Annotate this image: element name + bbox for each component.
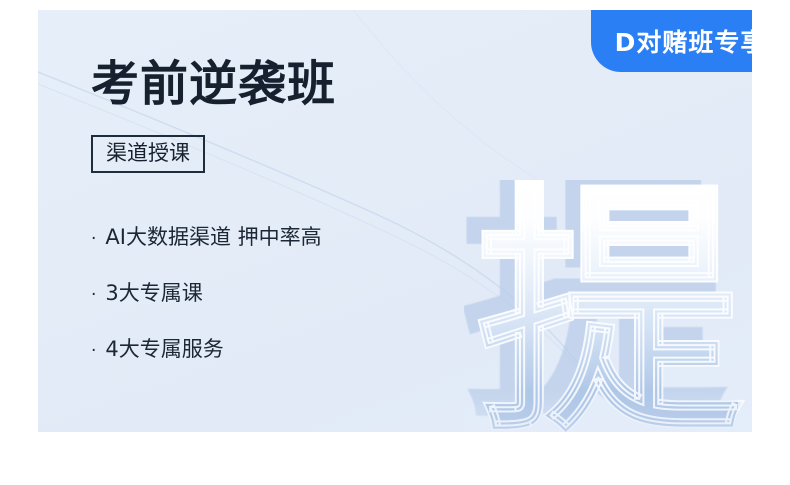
page-title: 考前逆袭班 <box>91 60 336 108</box>
watermark-glyph: 提 提 <box>464 180 752 432</box>
watermark-glyph-main: 提 <box>476 180 738 432</box>
list-item-label: AI大数据渠道 押中率高 <box>105 221 321 251</box>
list-item-label: 3大专属课 <box>105 277 202 307</box>
exclusive-badge[interactable]: D对赌班专享 <box>591 10 752 72</box>
list-item: · 3大专属课 <box>91 277 336 307</box>
watermark-fade-overlay <box>464 390 752 432</box>
bullet-icon: · <box>91 287 96 304</box>
bullet-icon: · <box>91 231 96 248</box>
list-item: · 4大专属服务 <box>91 333 336 363</box>
feature-list: · AI大数据渠道 押中率高 · 3大专属课 · 4大专属服务 <box>91 221 336 363</box>
course-mode-tag: 渠道授课 <box>91 135 205 173</box>
list-item-label: 4大专属服务 <box>105 333 223 363</box>
list-item: · AI大数据渠道 押中率高 <box>91 221 336 251</box>
promo-card[interactable]: 提 提 D对赌班专享 考前逆袭班 渠道授课 · AI大数据渠道 押中率高 · 3… <box>38 10 752 432</box>
exclusive-badge-label: D对赌班专享 <box>615 23 752 59</box>
watermark-glyph-shadow: 提 <box>464 180 722 432</box>
bullet-icon: · <box>91 343 96 360</box>
promo-content: 考前逆袭班 渠道授课 · AI大数据渠道 押中率高 · 3大专属课 · 4大专属… <box>91 60 336 389</box>
